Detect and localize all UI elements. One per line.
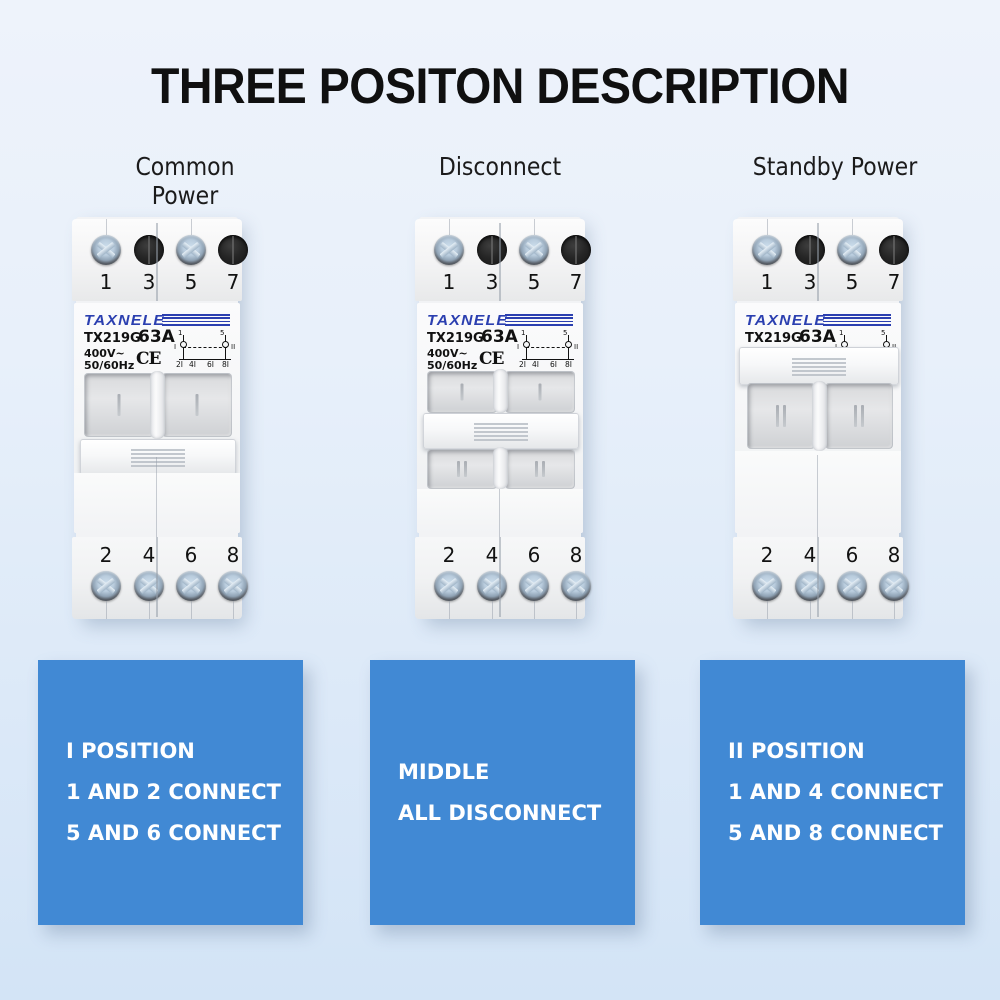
terminal-label-4: 4 <box>477 543 507 567</box>
window-mark-ii <box>535 461 545 477</box>
column-header-disconnect: Disconnect <box>416 152 583 181</box>
info-line: I POSITION <box>66 731 303 772</box>
brand-bars <box>162 314 230 325</box>
switch-unit-common-power: 1 3 5 7 TAXNELE TX219G 63A 400V~ 50/60Hz… <box>72 207 242 627</box>
terminal-screw-5 <box>519 235 549 265</box>
terminal-screw-1 <box>752 235 782 265</box>
info-line: II POSITION <box>728 731 965 772</box>
switch-window-pole2 <box>162 373 232 437</box>
terminal-label-6: 6 <box>176 543 206 567</box>
terminal-label-2: 2 <box>434 543 464 567</box>
window-mark-ii <box>854 405 864 427</box>
switch-lever[interactable] <box>739 347 899 385</box>
voltage-label: 400V~ 50/60Hz <box>84 348 134 372</box>
terminal-label-3: 3 <box>795 270 825 294</box>
switch-window-pole2 <box>825 383 893 449</box>
brand-bars <box>505 314 573 325</box>
lever-pivot <box>812 381 827 451</box>
info-line: 5 AND 6 CONNECT <box>66 813 303 854</box>
lever-pivot <box>150 371 165 439</box>
switch-window-lower-pole1 <box>427 449 497 489</box>
bottom-terminal-block: 2 4 6 8 <box>733 537 903 619</box>
window-mark-ii <box>457 461 467 477</box>
terminal-screw-6 <box>176 571 206 601</box>
terminal-screw-5 <box>837 235 867 265</box>
switch-window-pole1 <box>747 383 815 449</box>
terminal-screw-1 <box>434 235 464 265</box>
model-label: TX219G <box>84 331 141 346</box>
body-seam <box>499 489 500 537</box>
terminal-label-3: 3 <box>477 270 507 294</box>
lever-pivot-lower <box>493 447 508 489</box>
lever-grip <box>792 358 846 374</box>
switch-window-upper-pole1 <box>427 371 497 413</box>
ce-mark: CE <box>479 349 504 369</box>
window-mark-i <box>539 384 542 401</box>
info-line: 1 AND 4 CONNECT <box>728 772 965 813</box>
info-box-i-position: I POSITION 1 AND 2 CONNECT 5 AND 6 CONNE… <box>38 660 303 925</box>
terminal-label-7: 7 <box>218 270 248 294</box>
switch-window-lower-pole2 <box>505 449 575 489</box>
terminal-label-4: 4 <box>795 543 825 567</box>
current-rating-label: 63A <box>799 327 836 347</box>
info-box-middle: MIDDLE ALL DISCONNECT <box>370 660 635 925</box>
terminal-label-5: 5 <box>519 270 549 294</box>
terminal-screw-8 <box>218 571 248 601</box>
terminal-hole-3 <box>477 235 507 265</box>
switch-window-pole1 <box>84 373 154 437</box>
terminal-label-1: 1 <box>91 270 121 294</box>
info-line: MIDDLE <box>398 752 635 793</box>
body-seam <box>156 457 157 537</box>
terminal-label-3: 3 <box>134 270 164 294</box>
switch-window-upper-pole2 <box>505 371 575 413</box>
current-rating-label: 63A <box>481 327 518 347</box>
terminal-label-6: 6 <box>837 543 867 567</box>
terminal-screw-2 <box>434 571 464 601</box>
body-seam <box>817 455 818 537</box>
terminal-label-2: 2 <box>91 543 121 567</box>
info-box-ii-position: II POSITION 1 AND 4 CONNECT 5 AND 8 CONN… <box>700 660 965 925</box>
terminal-screw-2 <box>91 571 121 601</box>
page-title: THREE POSITON DESCRIPTION <box>35 57 965 115</box>
terminal-hole-7 <box>218 235 248 265</box>
terminal-label-5: 5 <box>837 270 867 294</box>
top-terminal-block: 1 3 5 7 <box>415 219 585 301</box>
terminal-hole-7 <box>879 235 909 265</box>
switch-lever[interactable] <box>423 413 579 449</box>
terminal-screw-8 <box>879 571 909 601</box>
model-label: TX219G <box>745 331 802 346</box>
lever-grip <box>474 423 528 439</box>
column-header-standby-power: Standby Power <box>751 152 918 181</box>
terminal-label-6: 6 <box>519 543 549 567</box>
terminal-screw-1 <box>91 235 121 265</box>
terminal-label-8: 8 <box>218 543 248 567</box>
switch-lever[interactable] <box>80 439 236 475</box>
lever-pivot <box>493 369 508 413</box>
terminal-hole-7 <box>561 235 591 265</box>
top-terminal-block: 1 3 5 7 <box>72 219 242 301</box>
terminal-screw-4 <box>795 571 825 601</box>
brand-bars <box>823 314 891 325</box>
info-line: 1 AND 2 CONNECT <box>66 772 303 813</box>
terminal-label-1: 1 <box>434 270 464 294</box>
lever-grip <box>131 449 185 465</box>
terminal-label-8: 8 <box>561 543 591 567</box>
terminal-hole-3 <box>134 235 164 265</box>
column-header-common-power: Common Power <box>101 152 268 210</box>
terminal-screw-4 <box>134 571 164 601</box>
current-rating-label: 63A <box>138 327 175 347</box>
wiring-schematic: 1 5 I II 2I 4I 6I 8I <box>517 331 579 367</box>
terminal-hole-3 <box>795 235 825 265</box>
terminal-label-2: 2 <box>752 543 782 567</box>
window-mark-i <box>461 384 464 401</box>
terminal-label-4: 4 <box>134 543 164 567</box>
window-mark-i <box>196 394 199 416</box>
terminal-screw-8 <box>561 571 591 601</box>
window-mark-i <box>118 394 121 416</box>
terminal-screw-6 <box>519 571 549 601</box>
wiring-schematic: 1 5 I II 2I 4I 6I 8I <box>174 331 236 367</box>
ce-mark: CE <box>136 349 161 369</box>
voltage-label: 400V~ 50/60Hz <box>427 348 477 372</box>
terminal-screw-2 <box>752 571 782 601</box>
info-line: ALL DISCONNECT <box>398 793 635 834</box>
top-terminal-block: 1 3 5 7 <box>733 219 903 301</box>
terminal-label-5: 5 <box>176 270 206 294</box>
switch-unit-standby-power: 1 3 5 7 TAXNELE TX219G 63A 400V~ 50/60Hz… <box>733 207 903 627</box>
terminal-label-7: 7 <box>561 270 591 294</box>
terminal-label-1: 1 <box>752 270 782 294</box>
bottom-terminal-block: 2 4 6 8 <box>415 537 585 619</box>
terminal-screw-4 <box>477 571 507 601</box>
window-mark-ii <box>776 405 786 427</box>
terminal-screw-6 <box>837 571 867 601</box>
bottom-terminal-block: 2 4 6 8 <box>72 537 242 619</box>
model-label: TX219G <box>427 331 484 346</box>
info-line: 5 AND 8 CONNECT <box>728 813 965 854</box>
switch-unit-disconnect: 1 3 5 7 TAXNELE TX219G 63A 400V~ 50/60Hz… <box>415 207 585 627</box>
terminal-screw-5 <box>176 235 206 265</box>
terminal-label-8: 8 <box>879 543 909 567</box>
terminal-label-7: 7 <box>879 270 909 294</box>
